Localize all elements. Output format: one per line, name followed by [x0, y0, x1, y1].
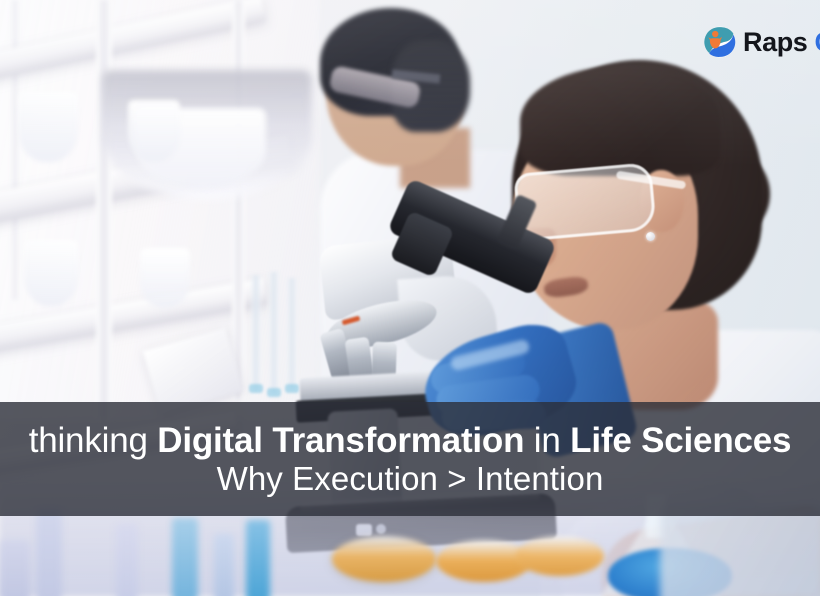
site-logo[interactable]: Raps Co: [703, 25, 820, 59]
subheadline: Why Execution > Intention: [217, 462, 604, 495]
sample-vial: [214, 534, 234, 596]
test-tube: [250, 275, 262, 391]
headline: thinking Digital Transformation in Life …: [29, 423, 792, 458]
sample-vial: [36, 508, 62, 596]
headline-overlay-band: thinking Digital Transformation in Life …: [0, 402, 820, 516]
headline-bold-2: Life Sciences: [570, 421, 791, 460]
logo-word-primary: Raps: [743, 27, 807, 57]
bench-blur-right: [660, 506, 820, 596]
beaker: [140, 248, 190, 308]
sample-vial: [246, 520, 270, 596]
sample-vial: [172, 518, 198, 596]
beaker: [128, 100, 180, 162]
raps-logo-mark-icon: [703, 25, 737, 59]
shelf-post: [10, 0, 20, 300]
sample-vial: [116, 524, 138, 596]
earring: [646, 232, 655, 241]
headline-plain-1: thinking: [29, 421, 158, 460]
test-tube-cap: [249, 384, 263, 393]
test-tube: [268, 272, 280, 394]
headline-bold-1: Digital Transformation: [157, 421, 524, 460]
sample-vial: [0, 540, 30, 596]
petri-dish: [516, 536, 604, 576]
shelf-post: [232, 0, 245, 400]
logo-wordmark: Raps Co: [743, 29, 820, 56]
test-tube: [286, 278, 298, 390]
beaker: [18, 92, 78, 162]
beaker: [24, 240, 78, 306]
test-tube-cap: [267, 388, 281, 397]
foreground-scientist-hair-front: [520, 66, 720, 176]
shelf-post: [96, 0, 112, 420]
petri-dish: [332, 536, 436, 582]
lab-hero-banner: Raps Co thinking Digital Transformation …: [0, 0, 820, 596]
test-tube-cap: [285, 384, 299, 393]
headline-plain-2: in: [524, 421, 570, 460]
logo-word-secondary: Co: [815, 27, 820, 57]
